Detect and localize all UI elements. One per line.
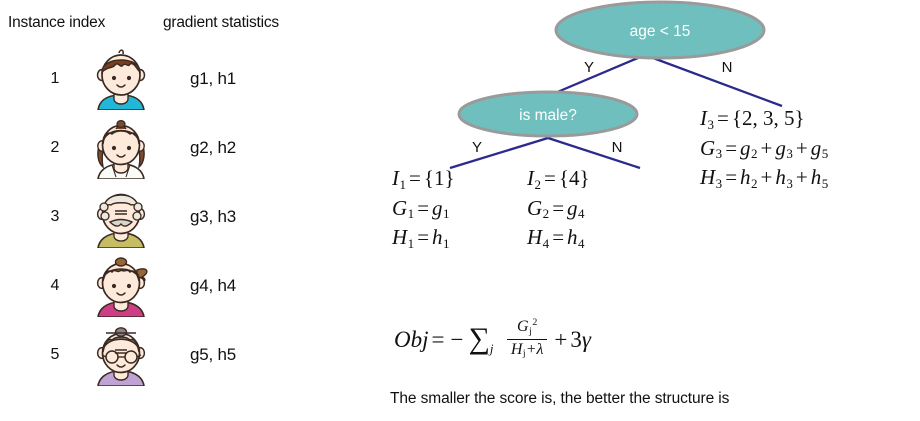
objective-fraction: Gj2 Hj+λ	[507, 318, 548, 360]
caption-text: The smaller the score is, the better the…	[390, 390, 729, 408]
leaf-3-hessian-sum: H3=h2+h3+h5	[700, 167, 828, 190]
tree-edge-left-no	[548, 138, 640, 168]
leaf-3-instance-set: I3={2, 3, 5}	[700, 108, 828, 131]
leaf-3-H-term-1: h2	[740, 165, 758, 189]
leaf-1-instance-set: I1={1}	[392, 168, 455, 191]
leaf-2-G-symbol: G	[527, 196, 542, 220]
objective-minus-sign: −	[447, 328, 466, 351]
objective-equals: =	[429, 328, 448, 351]
leaf-3-H-equals: =	[722, 165, 740, 189]
leaf-3-G-term-3: g5	[811, 136, 829, 160]
fraction-denominator: Hj+λ	[507, 340, 548, 360]
objective-function-formula: Obj = − ∑ j Gj2 Hj+λ + 3γ	[394, 318, 591, 360]
leaf-2-h-subscript: 4	[578, 236, 585, 251]
leaf-3-G-equals: =	[722, 136, 740, 160]
tree-node-is-male-label: is male?	[519, 107, 577, 124]
gamma-symbol: γ	[582, 328, 591, 351]
leaf-1-statistics: I1={1} G1=g1 H1=h1	[392, 168, 455, 257]
leaf-1-hessian-sum: H1=h1	[392, 227, 455, 250]
leaf-2-g-subscript: 4	[578, 206, 585, 221]
leaf-1-h-subscript: 1	[443, 236, 450, 251]
objective-plus-sign: +	[551, 328, 570, 351]
tree-edge-left-yes	[450, 138, 548, 168]
tree-edge-label-left-no: N	[612, 139, 623, 156]
leaf-2-g-symbol: g	[567, 196, 578, 220]
leaf-1-I-symbol: I	[392, 166, 399, 190]
leaf-3-G-term-2: g3	[775, 136, 793, 160]
leaf-1-g-symbol: g	[432, 196, 443, 220]
leaf-1-H-symbol: H	[392, 225, 407, 249]
leaf-3-I-equals: =	[714, 106, 732, 130]
leaf-2-instance-set: I2={4}	[527, 168, 590, 191]
tree-edge-label-root-yes: Y	[584, 59, 594, 76]
leaf-1-G-symbol: G	[392, 196, 407, 220]
leaf-1-I-equals: =	[406, 166, 424, 190]
leaf-2-I-value: {4}	[559, 166, 590, 190]
leaf-2-I-symbol: I	[527, 166, 534, 190]
leaf-1-g-subscript: 1	[443, 206, 450, 221]
objective-name: Obj	[394, 328, 429, 351]
leaf-3-statistics: I3={2, 3, 5} G3=g2+g3+g5 H3=h2+h3+h5	[700, 108, 828, 197]
leaf-2-H-symbol: H	[527, 225, 542, 249]
tree-node-root-label: age < 15	[630, 23, 691, 40]
leaf-3-H-term-3: h5	[811, 165, 829, 189]
leaf-2-statistics: I2={4} G2=g4 H4=h4	[527, 168, 590, 257]
gamma-coefficient: 3	[570, 328, 582, 351]
leaf-1-h-symbol: h	[432, 225, 443, 249]
leaf-1-I-value: {1}	[424, 166, 455, 190]
leaf-3-G-symbol: G	[700, 136, 715, 160]
leaf-1-G-equals: =	[414, 196, 432, 220]
leaf-2-h-symbol: h	[567, 225, 578, 249]
leaf-1-H-equals: =	[414, 225, 432, 249]
leaf-3-H-term-2: h3	[775, 165, 793, 189]
leaf-3-I-value: {2, 3, 5}	[732, 106, 805, 130]
tree-edge-root-no	[645, 55, 782, 106]
leaf-1-gradient-sum: G1=g1	[392, 198, 455, 221]
leaf-2-G-equals: =	[549, 196, 567, 220]
tree-edge-root-yes	[548, 55, 645, 96]
leaf-2-I-equals: =	[541, 166, 559, 190]
leaf-3-I-symbol: I	[700, 106, 707, 130]
leaf-3-H-symbol: H	[700, 165, 715, 189]
leaf-2-H-equals: =	[549, 225, 567, 249]
leaf-3-gradient-sum: G3=g2+g3+g5	[700, 138, 828, 161]
leaf-3-G-term-1: g2	[740, 136, 758, 160]
tree-edge-label-root-no: N	[722, 59, 733, 76]
fraction-numerator: Gj2	[507, 318, 548, 340]
tree-edge-label-left-yes: Y	[472, 139, 482, 156]
summation-operator: ∑ j	[468, 327, 489, 352]
summation-index: j	[490, 342, 494, 355]
leaf-2-gradient-sum: G2=g4	[527, 198, 590, 221]
sigma-icon: ∑	[468, 322, 489, 355]
leaf-2-hessian-sum: H4=h4	[527, 227, 590, 250]
